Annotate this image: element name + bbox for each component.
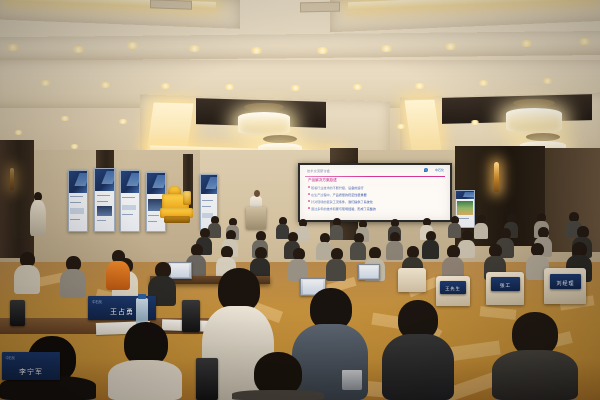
attendee: [422, 231, 439, 259]
attendee: [474, 215, 488, 239]
slide-logo-text: 中石化: [435, 168, 444, 172]
lectern: [246, 207, 266, 229]
table-name-card-org: 中石化: [92, 299, 102, 304]
slide-section-title: 产品解决方案总述: [308, 178, 337, 183]
attendee-orange-vest: [106, 250, 130, 290]
attendee: [288, 248, 308, 281]
wall-sconce: [494, 162, 499, 192]
attendee: [442, 245, 464, 280]
rollup-banner: [120, 170, 140, 232]
speaker-head: [254, 190, 260, 197]
slide-bullet: 随着行业技术的不断升级，设备的运行: [311, 185, 364, 190]
attendee: [386, 232, 403, 260]
laptop: [358, 264, 380, 280]
slide-bullet: 针对现场的复杂工况条件，我们提供了系统化: [311, 199, 373, 204]
presentation-slide: 技术交流研讨会 中石化 产品解决方案总述 随着行业技术的不断升级，设备的运行 在…: [300, 165, 450, 220]
attendee-foreground: [492, 312, 578, 400]
conference-hall-photo: 技术交流研讨会 中石化 产品解决方案总述 随着行业技术的不断升级，设备的运行 在…: [0, 0, 600, 400]
thermos-flask: [182, 300, 200, 332]
attendee-foreground: [108, 322, 182, 400]
rollup-banner: [68, 170, 88, 232]
chandelier: [238, 108, 290, 136]
seat-name-text: 刘经理: [550, 280, 581, 287]
standing-attendee: [30, 192, 46, 236]
thermos-flask: [10, 300, 25, 326]
corner-name-card: 中石化 李宁军: [2, 352, 60, 380]
corner-name-card-name: 李宁军: [2, 367, 60, 377]
corner-name-card-org: 中石化: [5, 355, 15, 360]
seat-name-card: 张工: [491, 277, 520, 291]
attendee: [60, 256, 86, 298]
attendee-foreground: [232, 352, 324, 400]
seat-name-card: 刘经理: [550, 274, 581, 289]
rollup-banner: [94, 168, 115, 232]
chair: [398, 268, 426, 292]
seat-name-text: 张工: [491, 283, 520, 289]
exhibit-machine: [160, 186, 194, 226]
attendee: [14, 252, 40, 294]
attendee-foreground: [382, 300, 454, 400]
chandelier: [506, 104, 562, 134]
wall-sconce: [10, 168, 14, 190]
slide-bullet: 通过多年的技术积累与现场经验，形成了完整的: [311, 206, 376, 211]
seat-name-card: 王先生: [440, 281, 466, 294]
seat-name-text: 王先生: [440, 286, 466, 292]
cup: [342, 370, 362, 390]
slide-header-title: 技术交流研讨会: [307, 168, 330, 173]
projection-screen: 技术交流研讨会 中石化 产品解决方案总述 随着行业技术的不断升级，设备的运行 在…: [298, 163, 452, 222]
thermos-flask: [196, 358, 218, 400]
ceiling: [0, 0, 600, 165]
attendee: [326, 248, 346, 281]
slide-bullet: 在生产过程中，产品质量的稳定性很重要: [311, 192, 367, 197]
